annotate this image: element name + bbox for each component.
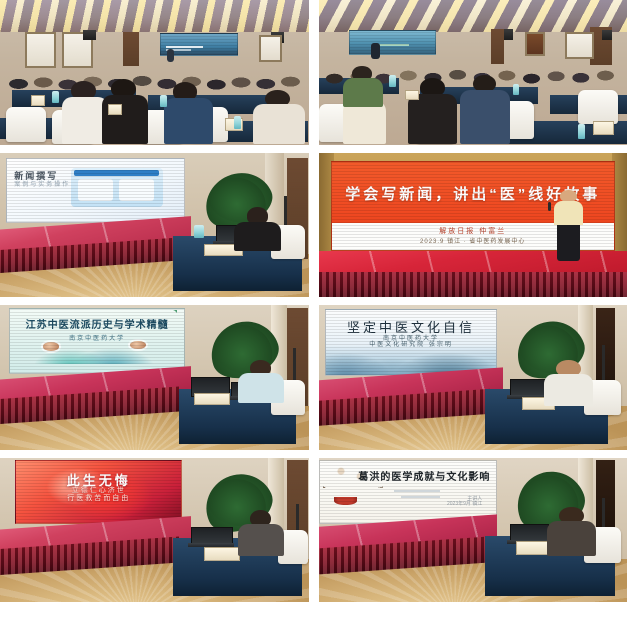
conference-hall-scene-1 [0, 0, 309, 145]
collage-photo-4: 学会写新闻，讲出“医”线好故事 解放日报 仲富兰 2023.9 镇江 · 省中医… [319, 153, 627, 298]
speaker-box-icon [83, 30, 95, 40]
presenter-head [560, 190, 576, 202]
name-card [405, 90, 419, 101]
water-bottle [194, 225, 203, 238]
collage-photo-1 [0, 0, 309, 145]
presentation-screen: 此生无悔 立德仁心济世 行医救苦而自由 [15, 460, 182, 524]
presentation-screen: 坚定中医文化自信 南京中医药大学 中医文化研究院 张宗明 [325, 309, 498, 375]
water-bottle [160, 95, 166, 107]
photo-collage: 新闻撰写 案例与实务操作 [0, 0, 627, 638]
stage-skirt [319, 272, 627, 297]
ceiling-light-bars-icon [0, 0, 309, 32]
collage-photo-8: 葛洪的医学成就与文化影响 主讲人 2023年9月 镇江 [319, 458, 627, 603]
lecture-stage-scene-6: 坚定中医文化自信 南京中医药大学 中医文化研究院 张宗明 [319, 305, 627, 450]
slide-subtitle-6b: 中医文化研究院 张宗明 [326, 339, 497, 348]
name-card [31, 95, 45, 106]
slide-subtitle-8b: 2023年9月 镇江 [422, 500, 482, 507]
water-bottle [52, 91, 58, 103]
name-card [108, 104, 122, 115]
slide-title-5: 江苏中医流派历史与学术精髓 [10, 316, 184, 331]
slide-subtitle-5: 南京中医药大学 [10, 333, 184, 342]
lecture-stage-scene-8: 葛洪的医学成就与文化影响 主讲人 2023年9月 镇江 [319, 458, 627, 603]
name-card [194, 393, 230, 405]
name-card [204, 547, 240, 561]
screen-scanlines [350, 31, 434, 54]
red-berry-bowl-graphic [334, 497, 357, 505]
lecturer-body [238, 373, 284, 403]
water-bottle [234, 116, 241, 129]
attendee-body [253, 104, 305, 144]
presentation-screen: 江苏中医流派历史与学术精髓 南京中医药大学 [9, 308, 185, 374]
collage-photo-7: 此生无悔 立德仁心济世 行医救苦而自由 [0, 458, 309, 603]
presentation-screen: 新闻撰写 案例与实务操作 [6, 158, 185, 223]
presenter-shirt [554, 201, 584, 226]
presenter-trousers [557, 225, 581, 261]
attendee-body [164, 98, 213, 144]
collage-photo-2 [319, 0, 627, 145]
collage-photo-6: 坚定中医文化自信 南京中医药大学 中医文化研究院 张宗明 [319, 305, 627, 450]
collage-photo-5: 江苏中医流派历史与学术精髓 南京中医药大学 [0, 305, 309, 450]
chair [578, 90, 618, 125]
lecture-stage-scene-5: 江苏中医流派历史与学术精髓 南京中医药大学 [0, 305, 309, 450]
lecturer-body [234, 222, 280, 251]
attendee-body [343, 101, 386, 144]
handheld-microphone-icon [548, 202, 551, 211]
name-card [593, 121, 614, 135]
attendee-body [343, 78, 383, 107]
speaker-box-icon [504, 29, 513, 41]
attendee-body [460, 90, 509, 145]
collage-grid: 新闻撰写 案例与实务操作 [0, 0, 627, 620]
collage-photo-3: 新闻撰写 案例与实务操作 [0, 153, 309, 298]
attendee-body [102, 95, 148, 144]
audience-far-rows [0, 58, 309, 96]
standing-presenter [550, 190, 587, 262]
chair [6, 107, 46, 142]
conference-hall-scene-2 [319, 0, 627, 145]
portrait-medallion [43, 342, 59, 350]
water-bottle [513, 84, 519, 96]
lecturer-body [547, 521, 596, 556]
lecture-stage-scene-3: 新闻撰写 案例与实务操作 [0, 153, 309, 298]
lecture-stage-scene-4: 学会写新闻，讲出“医”线好故事 解放日报 仲富兰 2023.9 镇江 · 省中医… [319, 153, 627, 298]
ceiling-light-bars-icon [319, 0, 627, 32]
presentation-screen: 葛洪的医学成就与文化影响 主讲人 2023年9月 镇江 [319, 460, 498, 524]
lecture-stage-scene-7: 此生无悔 立德仁心济世 行医救苦而自由 [0, 458, 309, 603]
water-bottle [389, 75, 395, 87]
lecturer-body [544, 374, 593, 406]
slide-subtitle-7b: 行医救苦而自由 [16, 493, 181, 503]
water-bottle [578, 124, 585, 138]
speaker-box-icon [602, 30, 611, 40]
slide-subtitle-3: 案例与实务操作 [14, 179, 70, 188]
slide-title-8: 葛洪的医学成就与文化影响 [358, 468, 489, 483]
name-card [516, 541, 549, 555]
attendee-body [408, 94, 457, 145]
lecturer-body [238, 524, 284, 556]
